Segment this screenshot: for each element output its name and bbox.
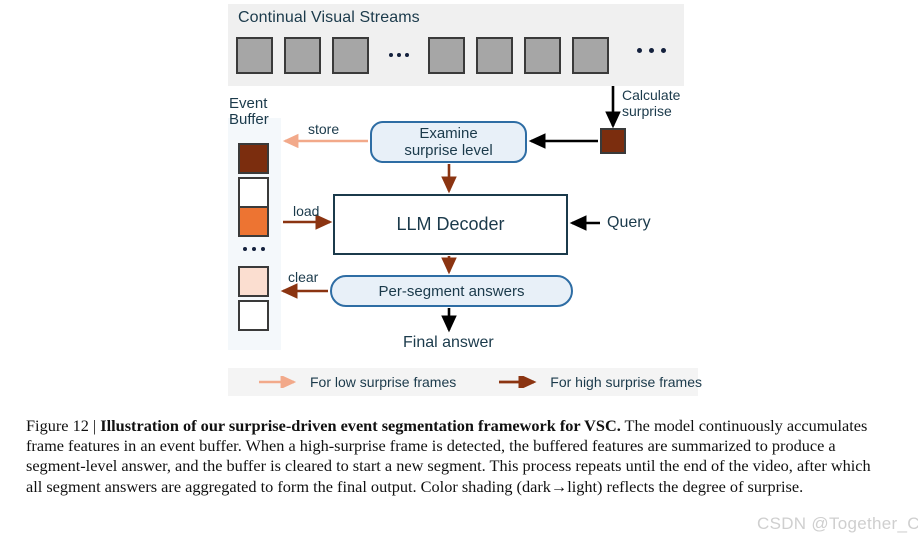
calculate-surprise-line1: Calculate bbox=[622, 87, 694, 103]
buffer-ellipsis-icon bbox=[239, 247, 269, 251]
stream-trailing-ellipsis-icon bbox=[637, 48, 666, 53]
caption-figure-number: Figure 12 | bbox=[26, 416, 100, 435]
caption-bold-title: Illustration of our surprise-driven even… bbox=[100, 416, 621, 435]
legend-arrow-low-icon bbox=[258, 376, 302, 388]
final-answer-label: Final answer bbox=[403, 334, 494, 352]
calculate-surprise-line2: surprise bbox=[622, 103, 694, 119]
buffer-square-empty-1 bbox=[238, 177, 269, 208]
figure-container: Continual Visual Streams Event Buffer Ex… bbox=[0, 0, 918, 542]
event-buffer-label: Event Buffer bbox=[229, 96, 283, 128]
stream-frame-1 bbox=[236, 37, 273, 74]
legend: For low surprise frames For high surpris… bbox=[228, 368, 698, 396]
buffer-square-high-surprise bbox=[238, 143, 269, 174]
examine-box-line2: surprise level bbox=[404, 142, 492, 159]
per-segment-answers-box[interactable]: Per-segment answers bbox=[330, 275, 573, 307]
buffer-square-empty-2 bbox=[238, 300, 269, 331]
streams-title: Continual Visual Streams bbox=[238, 9, 420, 27]
stream-frame-7 bbox=[572, 37, 609, 74]
event-buffer-label-line2: Buffer bbox=[229, 112, 283, 128]
calculate-surprise-label: Calculate surprise bbox=[622, 87, 694, 119]
legend-arrow-high-icon bbox=[498, 376, 542, 388]
stream-frame-5 bbox=[476, 37, 513, 74]
legend-item-low-surprise: For low surprise frames bbox=[258, 374, 456, 390]
stream-frame-3 bbox=[332, 37, 369, 74]
examine-box-line1: Examine bbox=[404, 125, 492, 142]
per-segment-answers-label: Per-segment answers bbox=[379, 283, 525, 300]
store-label: store bbox=[308, 121, 339, 137]
stream-frame-2 bbox=[284, 37, 321, 74]
high-surprise-frame-square bbox=[600, 128, 626, 154]
llm-decoder-box[interactable]: LLM Decoder bbox=[333, 194, 568, 255]
legend-item-high-surprise: For high surprise frames bbox=[498, 374, 702, 390]
figure-caption: Figure 12 | Illustration of our surprise… bbox=[26, 416, 890, 497]
stream-frame-6 bbox=[524, 37, 561, 74]
continual-visual-streams-panel: Continual Visual Streams bbox=[228, 4, 684, 86]
legend-label-low: For low surprise frames bbox=[310, 374, 456, 390]
watermark: CSDN @Together_CZ bbox=[757, 514, 918, 534]
stream-ellipsis-icon bbox=[380, 53, 417, 57]
legend-label-high: For high surprise frames bbox=[550, 374, 702, 390]
buffer-square-mid-surprise bbox=[238, 206, 269, 237]
query-label: Query bbox=[607, 214, 651, 232]
clear-label: clear bbox=[288, 269, 318, 285]
event-buffer-label-line1: Event bbox=[229, 96, 283, 112]
load-label: load bbox=[293, 203, 319, 219]
frame-row bbox=[236, 34, 620, 76]
examine-surprise-level-box[interactable]: Examine surprise level bbox=[370, 121, 527, 163]
stream-frame-4 bbox=[428, 37, 465, 74]
buffer-square-low-surprise bbox=[238, 266, 269, 297]
llm-decoder-label: LLM Decoder bbox=[396, 214, 504, 235]
